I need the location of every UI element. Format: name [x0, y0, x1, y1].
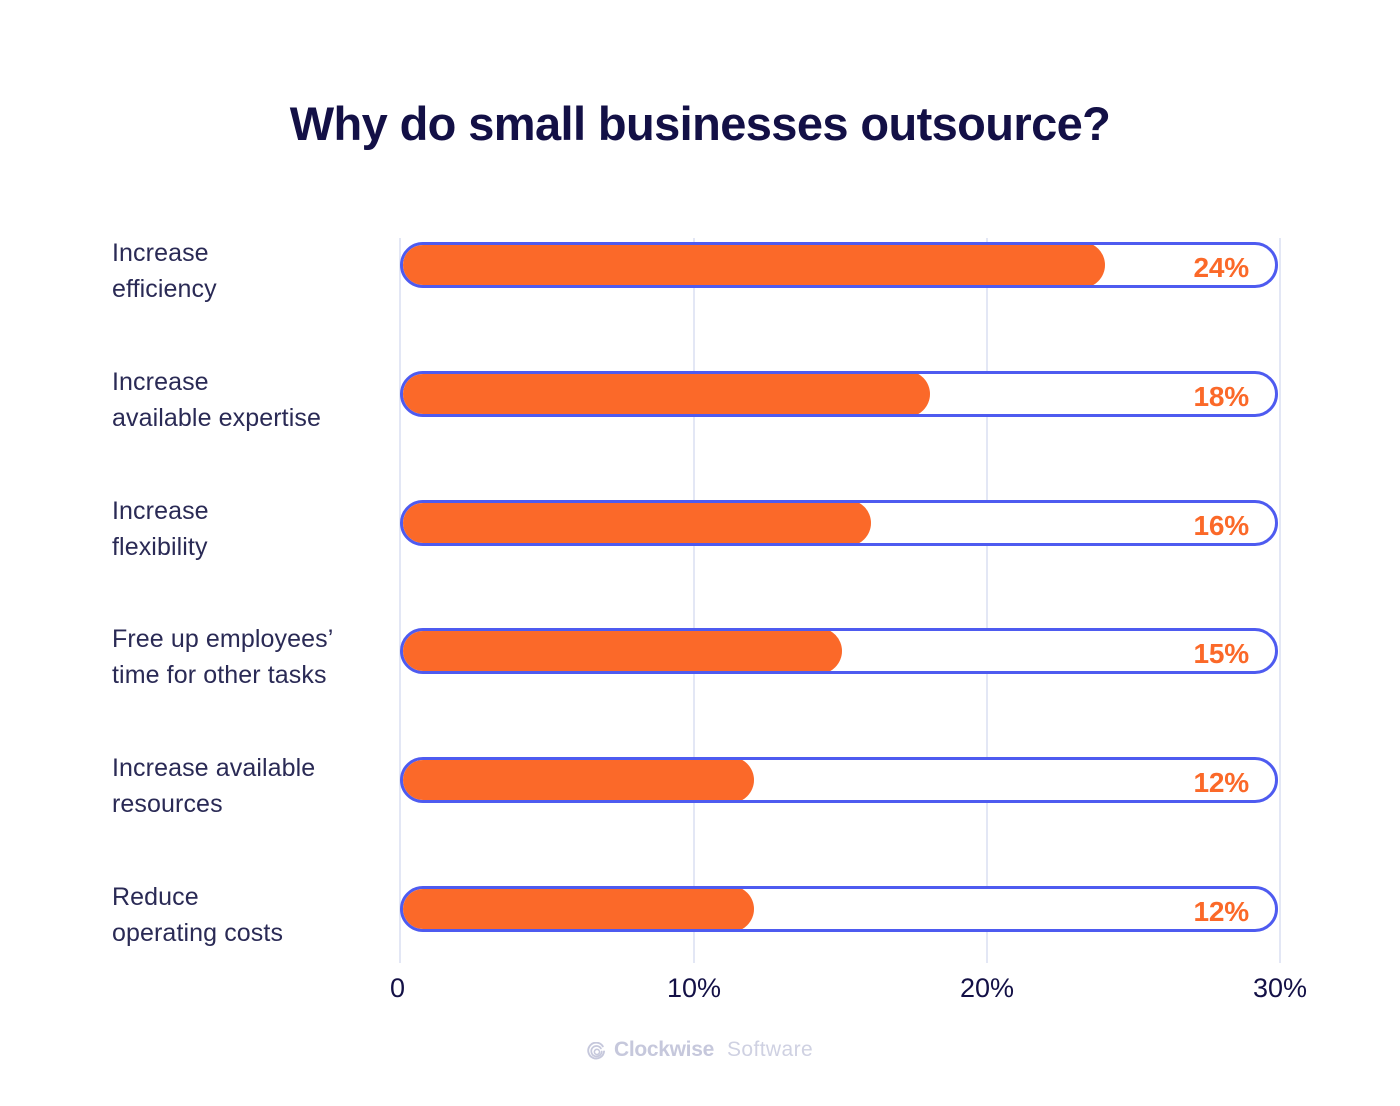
bar-fill	[400, 886, 754, 932]
category-label-line2: flexibility	[112, 530, 374, 566]
xtick-label-20: 20%	[960, 973, 1014, 1004]
bar-fill	[400, 757, 754, 803]
brand-suffix: Software	[727, 1038, 813, 1062]
category-label-line2: time for other tasks	[112, 658, 374, 694]
bar-value-label: 18%	[1194, 374, 1249, 417]
xtick-label-10: 10%	[667, 973, 721, 1004]
bar-row: Reduce operating costs 12%	[0, 886, 1400, 946]
bar-fill	[400, 371, 930, 417]
category-label-line1: Reduce	[112, 880, 374, 916]
bar-row: Increase flexibility 16%	[0, 500, 1400, 560]
bar-track: 24%	[400, 242, 1278, 288]
bar-value-label: 16%	[1194, 503, 1249, 546]
bar-value-label: 24%	[1194, 245, 1249, 288]
category-label-line1: Increase available	[112, 751, 374, 787]
gridline-0	[399, 238, 401, 963]
category-label-line1: Free up employees’	[112, 622, 374, 658]
bar-row: Free up employees’ time for other tasks …	[0, 628, 1400, 688]
category-label-line2: resources	[112, 787, 374, 823]
bar-track: 18%	[400, 371, 1278, 417]
bar-track: 12%	[400, 886, 1278, 932]
bar-row: Increase efficiency 24%	[0, 242, 1400, 302]
bar-fill	[400, 628, 842, 674]
category-label-line2: efficiency	[112, 272, 374, 308]
gridline-10	[693, 238, 695, 963]
bar-fill	[400, 242, 1105, 288]
brand-name: Clockwise	[614, 1038, 714, 1062]
bar-row: Increase available resources 12%	[0, 757, 1400, 817]
category-label: Increase available expertise	[112, 365, 374, 436]
category-label: Increase flexibility	[112, 494, 374, 565]
bar-row: Increase available expertise 18%	[0, 371, 1400, 431]
bar-track: 15%	[400, 628, 1278, 674]
clockwise-swirl-icon	[587, 1042, 606, 1061]
bar-track: 16%	[400, 500, 1278, 546]
chart-page: Why do small businesses outsource? 0 10%…	[0, 0, 1400, 1106]
category-label-line1: Increase	[112, 494, 374, 530]
category-label: Increase efficiency	[112, 236, 374, 307]
chart-plot-area: 0 10% 20% 30% Increase efficiency 24% In…	[0, 0, 1400, 1106]
bar-value-label: 15%	[1194, 631, 1249, 674]
category-label-line1: Increase	[112, 236, 374, 272]
category-label-line2: available expertise	[112, 401, 374, 437]
bar-value-label: 12%	[1194, 889, 1249, 932]
category-label: Free up employees’ time for other tasks	[112, 622, 374, 693]
gridline-20	[986, 238, 988, 963]
xtick-label-30: 30%	[1253, 973, 1307, 1004]
gridline-30	[1279, 238, 1281, 963]
bar-value-label: 12%	[1194, 760, 1249, 803]
bar-track: 12%	[400, 757, 1278, 803]
footer-branding: Clockwise Software	[0, 1038, 1400, 1062]
xtick-label-0: 0	[390, 973, 405, 1004]
category-label: Reduce operating costs	[112, 880, 374, 951]
category-label-line1: Increase	[112, 365, 374, 401]
bar-fill	[400, 500, 871, 546]
category-label-line2: operating costs	[112, 916, 374, 952]
category-label: Increase available resources	[112, 751, 374, 822]
